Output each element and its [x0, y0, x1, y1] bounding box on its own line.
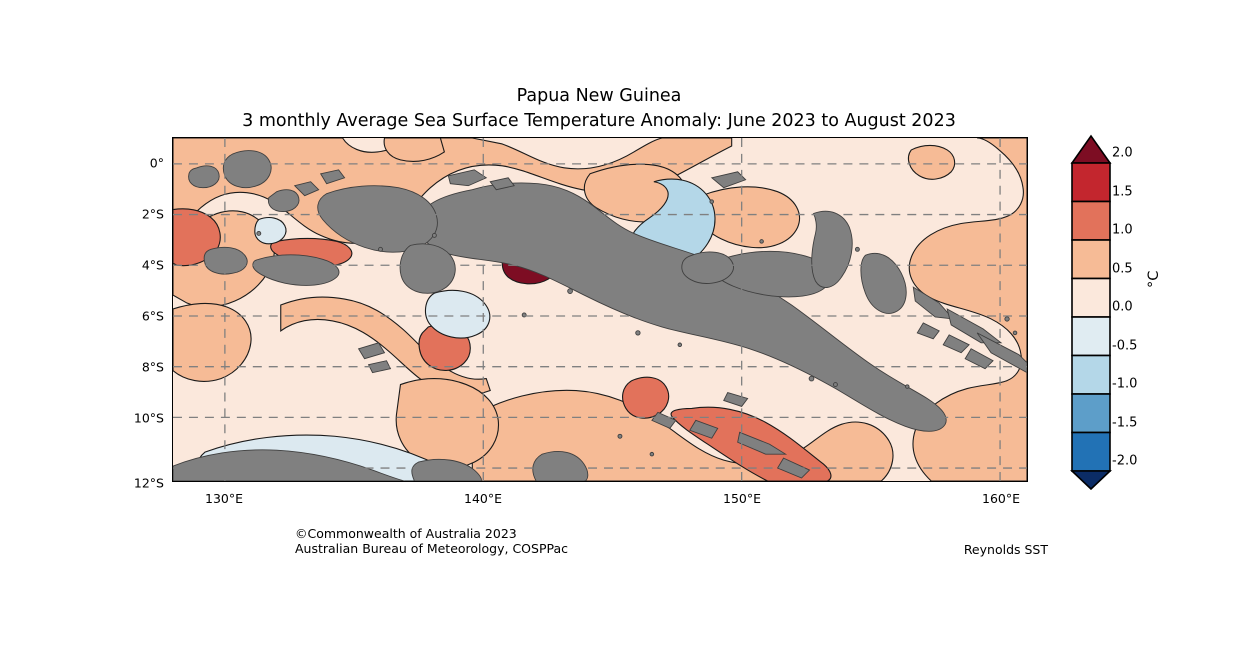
contour-band-warm-10-15-png-south-coast — [623, 377, 669, 418]
y-tick-5: 10°S — [134, 411, 164, 426]
colorbar-band-00-05 — [1072, 279, 1110, 318]
y-tick-1: 2°S — [142, 207, 164, 222]
y-axis-ticks: 0° 2°S 4°S 6°S 8°S 10°S 12°S — [0, 0, 172, 658]
colorbar-tick-m2-0: -2.0 — [1112, 454, 1137, 469]
colorbar-tick-m1-0: -1.0 — [1112, 377, 1137, 392]
colorbar-tick-m1-5: -1.5 — [1112, 415, 1137, 430]
colorbar-tick-0-0: 0.0 — [1112, 300, 1133, 315]
chart-title-block: Papua New Guinea 3 monthly Average Sea S… — [0, 84, 1198, 134]
y-tick-2: 4°S — [142, 258, 164, 273]
colorbar-over-arrow — [1072, 136, 1110, 163]
footer-data-source: Reynolds SST — [0, 542, 1048, 557]
colorbar[interactable] — [1068, 130, 1114, 490]
figure-canvas: Papua New Guinea 3 monthly Average Sea S… — [0, 0, 1258, 658]
colorbar-band-m10-m05 — [1072, 356, 1110, 395]
colorbar-swatches — [1068, 130, 1114, 490]
colorbar-unit-label: °C — [1146, 271, 1162, 288]
chart-title-line-2: 3 monthly Average Sea Surface Temperatur… — [0, 109, 1198, 134]
colorbar-tick-2-0: 2.0 — [1112, 146, 1133, 161]
colorbar-band-15-20 — [1072, 163, 1110, 202]
colorbar-band-m20-m15 — [1072, 433, 1110, 472]
x-tick-3: 160°E — [982, 491, 1020, 506]
colorbar-under-arrow — [1072, 471, 1110, 489]
colorbar-band-05-10 — [1072, 240, 1110, 279]
y-tick-6: 12°S — [134, 476, 164, 491]
colorbar-tick-1-5: 1.5 — [1112, 184, 1133, 199]
footer-copyright: ©Commonwealth of Australia 2023 — [295, 527, 568, 542]
colorbar-band-m05-00 — [1072, 317, 1110, 356]
colorbar-band-10-15 — [1072, 202, 1110, 241]
colorbar-tick-0-5: 0.5 — [1112, 261, 1133, 276]
colorbar-tick-labels: 2.0 1.5 1.0 0.5 0.0 -0.5 -1.0 -1.5 -2.0 — [1112, 130, 1172, 490]
sst-anomaly-map — [173, 138, 1027, 481]
y-tick-0: 0° — [150, 156, 164, 171]
x-tick-0: 130°E — [205, 491, 243, 506]
chart-title-line-1: Papua New Guinea — [0, 84, 1198, 109]
map-plot-area[interactable] — [172, 137, 1028, 482]
contour-band-cool-05-00-seram — [255, 218, 286, 244]
colorbar-band-m15-m10 — [1072, 394, 1110, 433]
x-tick-2: 150°E — [723, 491, 761, 506]
colorbar-tick-1-0: 1.0 — [1112, 223, 1133, 238]
y-tick-3: 6°S — [142, 309, 164, 324]
colorbar-tick-m0-5: -0.5 — [1112, 338, 1137, 353]
x-tick-1: 140°E — [464, 491, 502, 506]
y-tick-4: 8°S — [142, 360, 164, 375]
